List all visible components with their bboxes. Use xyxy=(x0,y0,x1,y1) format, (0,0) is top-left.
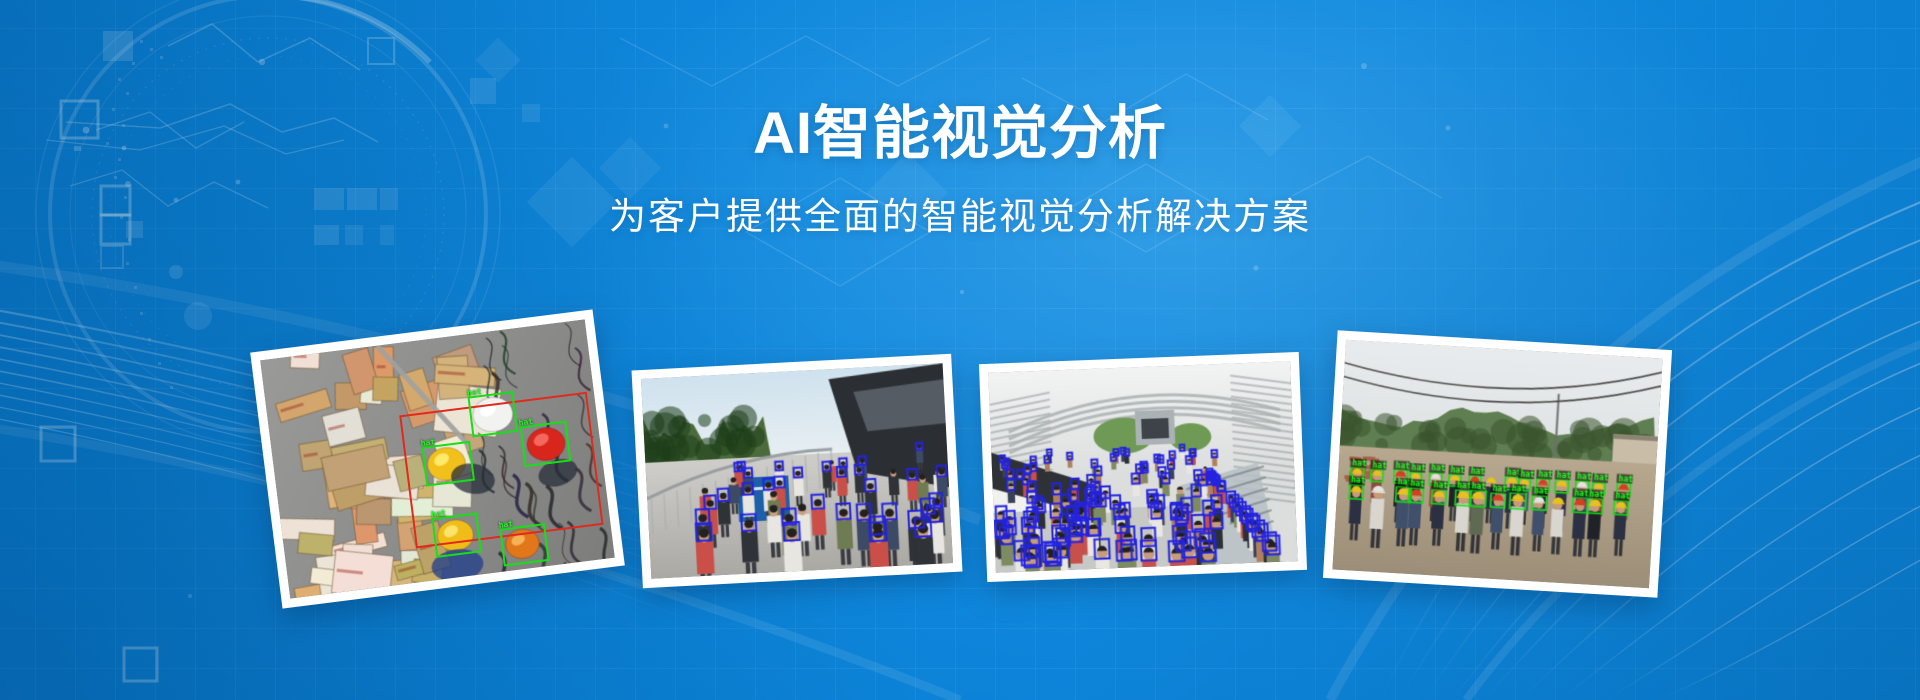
detection-box-hat: hat xyxy=(468,391,519,437)
gallery-card-helmet-warehouse[interactable]: hat hat hat hat hat xyxy=(250,309,625,608)
photo-warehouse-overhead: hat hat hat hat hat xyxy=(260,319,615,598)
photo-station-escalator xyxy=(988,361,1297,572)
detection-label: hat xyxy=(431,508,446,519)
photo-construction-group xyxy=(1332,340,1662,588)
hero-banner: AI智能视觉分析 为客户提供全面的智能视觉分析解决方案 hat hat hat xyxy=(0,0,1920,700)
detection-box-hat: hat xyxy=(519,421,571,467)
detection-label: hat xyxy=(518,417,533,428)
detection-label: hat xyxy=(420,437,435,448)
gallery-card-hat-construction[interactable] xyxy=(1323,330,1672,597)
detection-box-hat: hat xyxy=(499,523,549,567)
banner-content: AI智能视觉分析 为客户提供全面的智能视觉分析解决方案 hat hat hat xyxy=(0,0,1920,700)
detection-box-hat: hat xyxy=(432,512,483,558)
gallery-card-face-footbridge[interactable] xyxy=(632,354,963,588)
photo-gallery: hat hat hat hat hat xyxy=(0,0,1920,700)
detection-label: hat xyxy=(467,387,482,398)
detection-label: hat xyxy=(498,519,513,530)
photo-footbridge-crowd xyxy=(641,363,953,579)
gallery-card-person-station[interactable] xyxy=(979,352,1307,582)
detection-box-hat: hat xyxy=(421,440,475,487)
